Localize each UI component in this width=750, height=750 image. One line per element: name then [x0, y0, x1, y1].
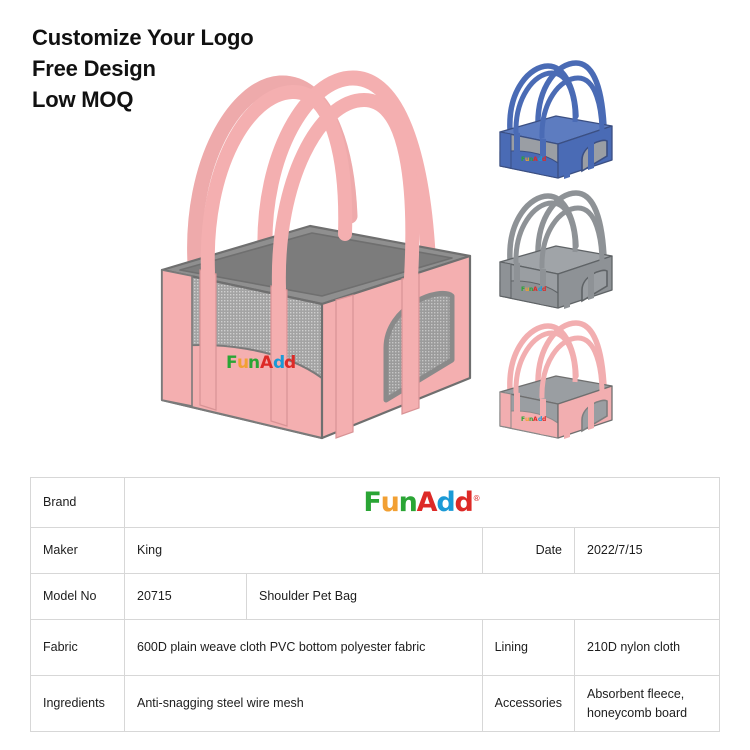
svg-text:d: d [542, 156, 546, 163]
logo-letter-f: F [363, 489, 380, 516]
cell-label-fabric: Fabric [31, 620, 125, 676]
svg-text:d: d [542, 286, 546, 293]
colorway-thumbnail-blue[interactable]: Fu nA dd [492, 56, 617, 186]
logo-letter-d2: d [455, 489, 473, 516]
cell-brand-logo: FunAdd® [125, 478, 720, 528]
cell-label-accessories: Accessories [482, 676, 574, 732]
table-row-ingredients: Ingredients Anti-snagging steel wire mes… [31, 676, 720, 732]
funadd-wordmark: FunAdd® [363, 489, 480, 516]
headline-block: Customize Your Logo Free Design Low MOQ [32, 22, 254, 116]
table-row-maker: Maker King Date 2022/7/15 [31, 528, 720, 574]
logo-letter-d1: d [436, 489, 454, 516]
svg-text:A: A [260, 353, 274, 373]
cell-value-maker: King [125, 528, 483, 574]
table-row-fabric: Fabric 600D plain weave cloth PVC bottom… [31, 620, 720, 676]
headline-line-2: Free Design [32, 53, 254, 84]
svg-text:u: u [237, 353, 248, 373]
cell-value-ingredients: Anti-snagging steel wire mesh [125, 676, 483, 732]
cell-label-model-no: Model No [31, 574, 125, 620]
svg-text:d: d [542, 416, 546, 423]
colorway-thumbnail-gray[interactable]: Fu nA dd [492, 186, 617, 316]
cell-label-ingredients: Ingredients [31, 676, 125, 732]
headline-line-3: Low MOQ [32, 84, 254, 115]
cell-label-maker: Maker [31, 528, 125, 574]
cell-label-lining: Lining [482, 620, 574, 676]
svg-text:F: F [226, 353, 237, 373]
cell-value-lining: 210D nylon cloth [575, 620, 720, 676]
logo-letter-a: A [417, 489, 437, 516]
svg-text:d: d [284, 353, 295, 373]
svg-text:n: n [248, 353, 259, 373]
cell-label-date: Date [482, 528, 574, 574]
cell-value-date: 2022/7/15 [575, 528, 720, 574]
headline-line-1: Customize Your Logo [32, 22, 254, 53]
table-row-brand: Brand FunAdd® [31, 478, 720, 528]
cell-value-fabric: 600D plain weave cloth PVC bottom polyes… [125, 620, 483, 676]
logo-letter-n: n [399, 489, 417, 516]
logo-letter-u: u [381, 489, 399, 516]
registered-mark: ® [473, 494, 481, 503]
colorway-thumbnail-pink[interactable]: Fu nA dd [492, 316, 617, 446]
svg-text:d: d [273, 353, 284, 373]
product-spec-table: Brand FunAdd® Maker King Date 2022/7/15 … [30, 477, 720, 732]
cell-value-product-name: Shoulder Pet Bag [247, 574, 720, 620]
cell-value-model-no: 20715 [125, 574, 247, 620]
table-row-model: Model No 20715 Shoulder Pet Bag [31, 574, 720, 620]
cell-value-accessories: Absorbent fleece, honeycomb board [575, 676, 720, 732]
cell-label-brand: Brand [31, 478, 125, 528]
